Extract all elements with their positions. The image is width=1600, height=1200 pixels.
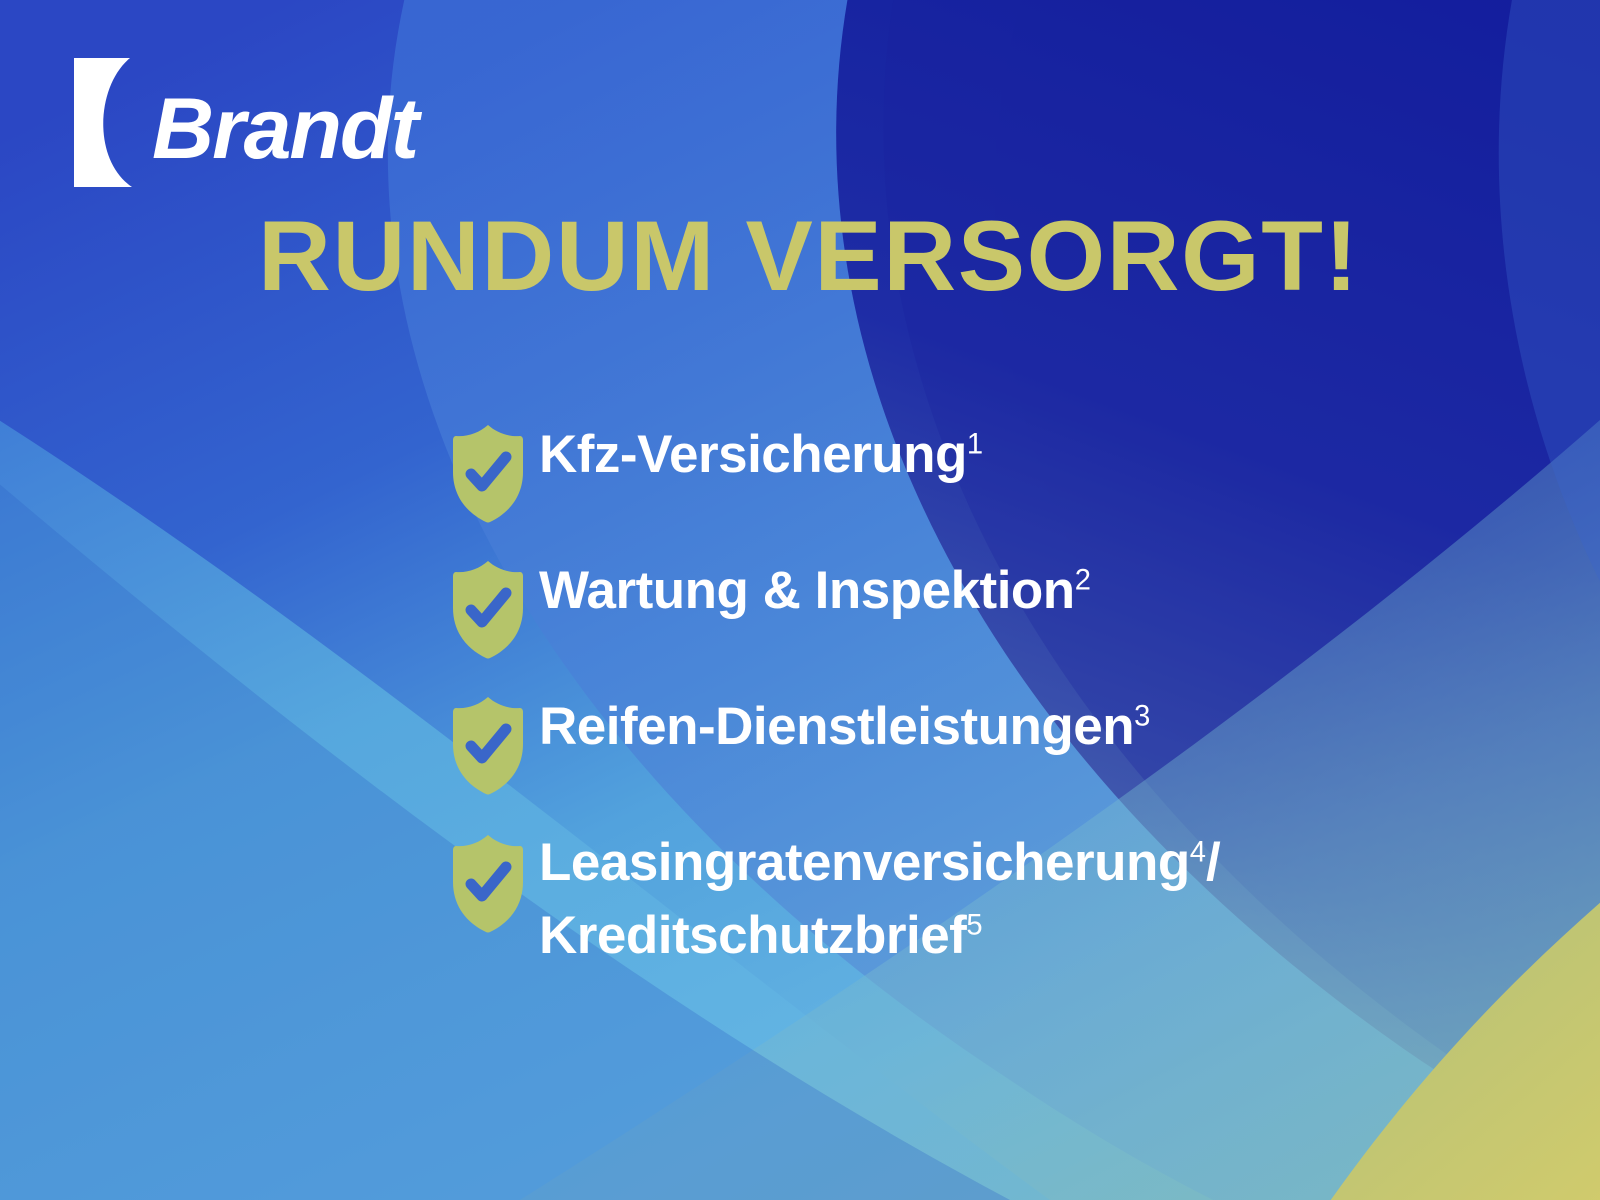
benefit-label-text: Leasingratenversicherung <box>539 833 1190 892</box>
shield-check-icon <box>449 696 527 796</box>
brandt-logo[interactable]: Brandt <box>70 55 417 190</box>
shield-check-icon <box>449 834 527 934</box>
benefit-label: Wartung & Inspektion2 <box>539 548 1091 627</box>
shield-check-icon <box>449 424 527 524</box>
benefits-list: Kfz-Versicherung1 Wartung & Inspektion2 … <box>449 412 1449 972</box>
benefit-label-text: Wartung & Inspektion <box>539 561 1075 620</box>
benefit-label-text-2: Kreditschutzbrief <box>539 906 966 965</box>
benefit-label: Reifen-Dienstleistungen3 <box>539 684 1150 763</box>
benefit-label: Kfz-Versicherung1 <box>539 412 983 491</box>
page-title: RUNDUM VERSORGT! <box>258 206 1360 305</box>
brandt-bracket-mark <box>70 56 156 189</box>
benefit-label-text: Reifen-Dienstleistungen <box>539 697 1134 756</box>
list-item: Leasingratenversicherung4/ Kreditschutzb… <box>449 820 1449 972</box>
brand-name: Brandt <box>152 86 417 172</box>
list-item: Reifen-Dienstleistungen3 <box>449 684 1449 796</box>
benefit-footnote-2: 5 <box>966 909 982 941</box>
benefit-footnote: 3 <box>1134 700 1150 732</box>
shield-check-icon <box>449 560 527 660</box>
benefit-label-text: Kfz-Versicherung <box>539 425 967 484</box>
benefit-label-separator: / <box>1206 833 1220 892</box>
benefit-footnote: 4 <box>1190 836 1206 868</box>
benefit-footnote: 2 <box>1075 564 1091 596</box>
benefit-label: Leasingratenversicherung4/ Kreditschutzb… <box>539 820 1220 972</box>
list-item: Kfz-Versicherung1 <box>449 412 1449 524</box>
benefit-footnote: 1 <box>967 428 983 460</box>
promo-slide: Brandt RUNDUM VERSORGT! Kfz-Versicherung… <box>0 0 1600 1200</box>
list-item: Wartung & Inspektion2 <box>449 548 1449 660</box>
